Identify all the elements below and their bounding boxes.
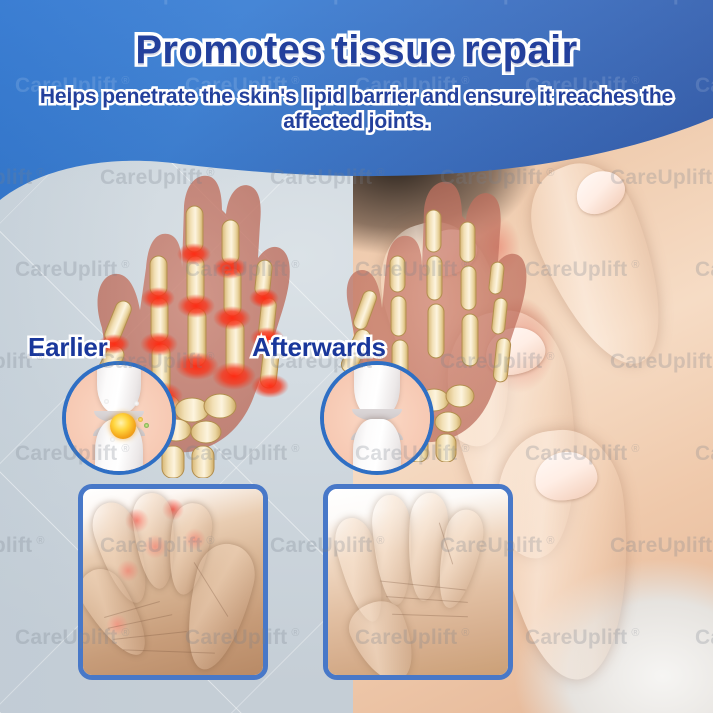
crystal-speck bbox=[134, 401, 139, 406]
label-afterwards: Afterwards bbox=[252, 332, 386, 363]
promotional-poster: Earlier Afterwards bbox=[0, 0, 713, 713]
page-subtitle: Helps penetrate the skin's lipid barrier… bbox=[34, 84, 679, 134]
arthritic-hands-photo-image bbox=[83, 489, 263, 675]
joint-closeup-after bbox=[320, 361, 434, 475]
healthy-hand-photo bbox=[323, 484, 513, 680]
joint-closeup-before-image bbox=[66, 365, 172, 471]
photo-finger-shape bbox=[342, 593, 427, 680]
label-earlier: Earlier bbox=[28, 332, 108, 363]
crystal-speck bbox=[110, 437, 115, 442]
healthy-hand-photo-image bbox=[328, 489, 508, 675]
joint-closeup-before bbox=[62, 361, 176, 475]
bone-lower bbox=[353, 419, 401, 475]
page-title: Promotes tissue repair bbox=[0, 27, 713, 73]
joint-closeup-after-image bbox=[324, 365, 430, 471]
crystal-speck bbox=[138, 417, 143, 422]
arthritic-hands-photo bbox=[78, 484, 268, 680]
crystal-speck bbox=[104, 399, 109, 404]
inflammation-marker bbox=[110, 413, 136, 439]
crystal-speck bbox=[144, 423, 149, 428]
